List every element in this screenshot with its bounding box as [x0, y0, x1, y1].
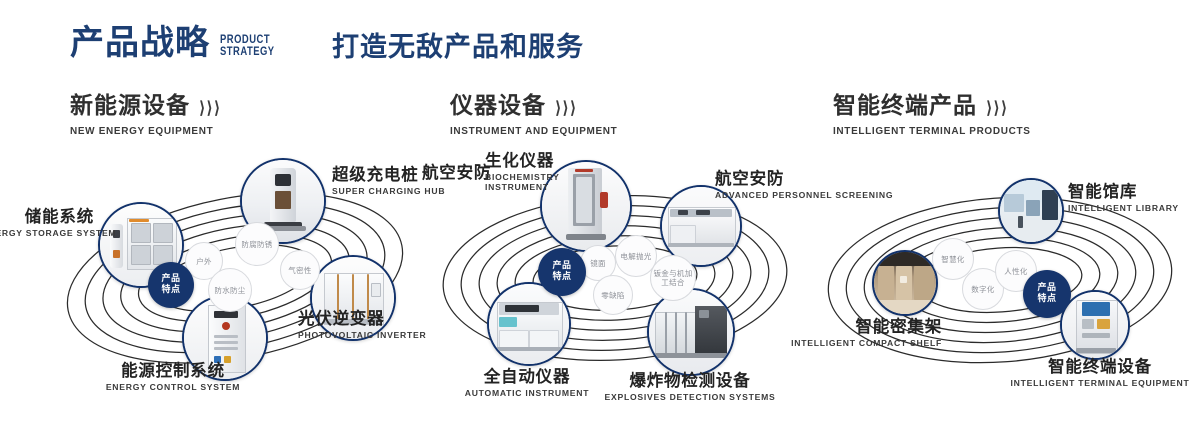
chevron-right-icon: ⟩⟩⟩ [199, 100, 220, 114]
explosives-detection-photo [649, 290, 733, 374]
caption-intelligent-compact-shelf: 智能密集架 INTELLIGENT COMPACT SHELF [762, 318, 942, 348]
caption-en: ENERGY STORAGE SYSTEM [0, 228, 94, 239]
feature-label: 防腐防锈 [241, 240, 272, 249]
caption-en: ENERGY CONTROL SYSTEM [78, 382, 268, 393]
chevron-right-icon: ⟩⟩⟩ [986, 100, 1007, 114]
section-header-intelligent-terminal: 智能终端产品 ⟩⟩⟩ INTELLIGENT TERMINAL PRODUCTS [833, 95, 1041, 137]
poster-canvas: 产品战略 PRODUCT STRATEGY 打造无敌产品和服务 新能源设备 ⟩⟩… [0, 0, 1200, 422]
caption-biochemistry-instrument: 生化仪器 BIOCHEMISTRY INSTRUMENT [485, 152, 603, 193]
feature-label: 镜面 [590, 259, 606, 268]
intelligent-terminal-equipment-photo [1062, 292, 1128, 358]
core-label-line2: 特点 [1037, 294, 1056, 305]
feature-label: 数字化 [971, 285, 994, 294]
section-title-en: NEW ENERGY EQUIPMENT [70, 125, 213, 137]
page-subtitle: 打造无敌产品和服务 [332, 34, 584, 61]
intelligent-library-photo [1000, 180, 1062, 242]
feature-label: 零缺陷 [601, 291, 624, 300]
section-title-en: INTELLIGENT TERMINAL PRODUCTS [833, 125, 1031, 137]
feature-bubble-anticorrosion: 防腐防锈 [235, 222, 279, 266]
core-label-line1: 产品 [1037, 283, 1056, 294]
caption-cn: 航空安防 [422, 164, 491, 181]
caption-energy-storage-system: 储能系统 ENERGY STORAGE SYSTEM [0, 208, 94, 238]
caption-energy-control-system: 能源控制系统 ENERGY CONTROL SYSTEM [78, 362, 268, 392]
core-bubble-product-features: 产品 特点 [538, 248, 586, 296]
caption-cn: 爆炸物检测设备 [595, 372, 785, 389]
cluster-instrument: 航空安防 生化仪器 BIOCHEMISTRY INSTRUMENT 航空安防 A… [415, 150, 815, 400]
intelligent-compact-shelf-photo [874, 252, 936, 314]
feature-bubble-waterproof-dustproof: 防水防尘 [208, 268, 252, 312]
product-node-explosives-detection[interactable] [647, 288, 735, 376]
feature-bubble-zero-defect: 零缺陷 [593, 275, 633, 315]
caption-cn: 智能密集架 [762, 318, 942, 335]
caption-intelligent-library: 智能馆库 INTELLIGENT LIBRARY [1068, 183, 1179, 213]
caption-cn: 全自动仪器 [437, 368, 617, 385]
caption-en: EXPLOSIVES DETECTION SYSTEMS [595, 392, 785, 403]
caption-en: BIOCHEMISTRY INSTRUMENT [485, 172, 603, 193]
feature-label: 户外 [196, 257, 212, 266]
feature-bubble-sheet-metal-machining: 钣金与机加工结合 [650, 255, 696, 301]
cluster-intelligent-terminal: 智能馆库 INTELLIGENT LIBRARY 智能密集架 INTELLIGE… [810, 150, 1200, 400]
core-label-line1: 产品 [552, 261, 571, 272]
feature-label: 钣金与机加工结合 [653, 269, 693, 287]
caption-en: INTELLIGENT LIBRARY [1068, 203, 1179, 214]
core-label-line1: 产品 [161, 274, 180, 285]
cluster-new-energy: 超级充电桩 SUPER CHARGING HUB 储能系统 ENERGY STO… [40, 150, 430, 400]
core-bubble-product-features: 产品 特点 [148, 262, 194, 308]
automatic-instrument-photo [489, 284, 569, 364]
product-node-intelligent-compact-shelf[interactable] [872, 250, 938, 316]
section-title-en: INSTRUMENT AND EQUIPMENT [450, 125, 617, 137]
caption-cn: 智能馆库 [1068, 183, 1179, 200]
page-title-en: PRODUCT STRATEGY [220, 34, 275, 58]
section-header-instrument: 仪器设备 ⟩⟩⟩ INSTRUMENT AND EQUIPMENT [450, 95, 626, 137]
caption-intelligent-terminal-equipment: 智能终端设备 INTELLIGENT TERMINAL EQUIPMENT [1000, 358, 1200, 388]
caption-cn: 储能系统 [0, 208, 94, 225]
product-node-intelligent-terminal-equipment[interactable] [1060, 290, 1130, 360]
caption-cn: 能源控制系统 [78, 362, 268, 379]
section-header-new-energy: 新能源设备 ⟩⟩⟩ NEW ENERGY EQUIPMENT [70, 95, 221, 137]
feature-label: 电解抛光 [620, 252, 651, 261]
caption-explosives-detection: 爆炸物检测设备 EXPLOSIVES DETECTION SYSTEMS [595, 372, 785, 402]
caption-cn: 生化仪器 [485, 152, 603, 169]
page-title-cn: 产品战略 [70, 26, 210, 60]
caption-cn: 智能终端设备 [1000, 358, 1200, 375]
caption-en: INTELLIGENT COMPACT SHELF [762, 338, 942, 349]
core-label-line2: 特点 [161, 285, 180, 296]
section-title-cn: 新能源设备 [70, 95, 190, 118]
caption-en: INTELLIGENT TERMINAL EQUIPMENT [1000, 378, 1200, 389]
feature-label: 人性化 [1004, 267, 1027, 276]
caption-cn: 光伏逆变器 [298, 310, 426, 327]
product-node-intelligent-library[interactable] [998, 178, 1064, 244]
core-label-line2: 特点 [552, 272, 571, 283]
feature-label: 防水防尘 [214, 286, 245, 295]
section-title-cn: 智能终端产品 [833, 95, 977, 118]
chevron-right-icon: ⟩⟩⟩ [555, 100, 576, 114]
feature-label: 智慧化 [941, 255, 964, 264]
caption-automatic-instrument: 全自动仪器 AUTOMATIC INSTRUMENT [437, 368, 617, 398]
feature-label: 气密性 [288, 266, 311, 275]
core-bubble-product-features: 产品 特点 [1023, 270, 1071, 318]
caption-en: AUTOMATIC INSTRUMENT [437, 388, 617, 399]
page-title-en-line1: PRODUCT [220, 34, 275, 46]
caption-photovoltaic-inverter: 光伏逆变器 PHOTOVOLTAIC INVERTER [298, 310, 426, 340]
caption-en: PHOTOVOLTAIC INVERTER [298, 330, 426, 341]
feature-bubble-airtightness: 气密性 [280, 250, 320, 290]
page-title: 产品战略 PRODUCT STRATEGY [70, 26, 287, 60]
page-title-en-line2: STRATEGY [220, 46, 275, 58]
section-title-cn: 仪器设备 [450, 95, 546, 118]
caption-aviation-security-left: 航空安防 [422, 164, 491, 181]
